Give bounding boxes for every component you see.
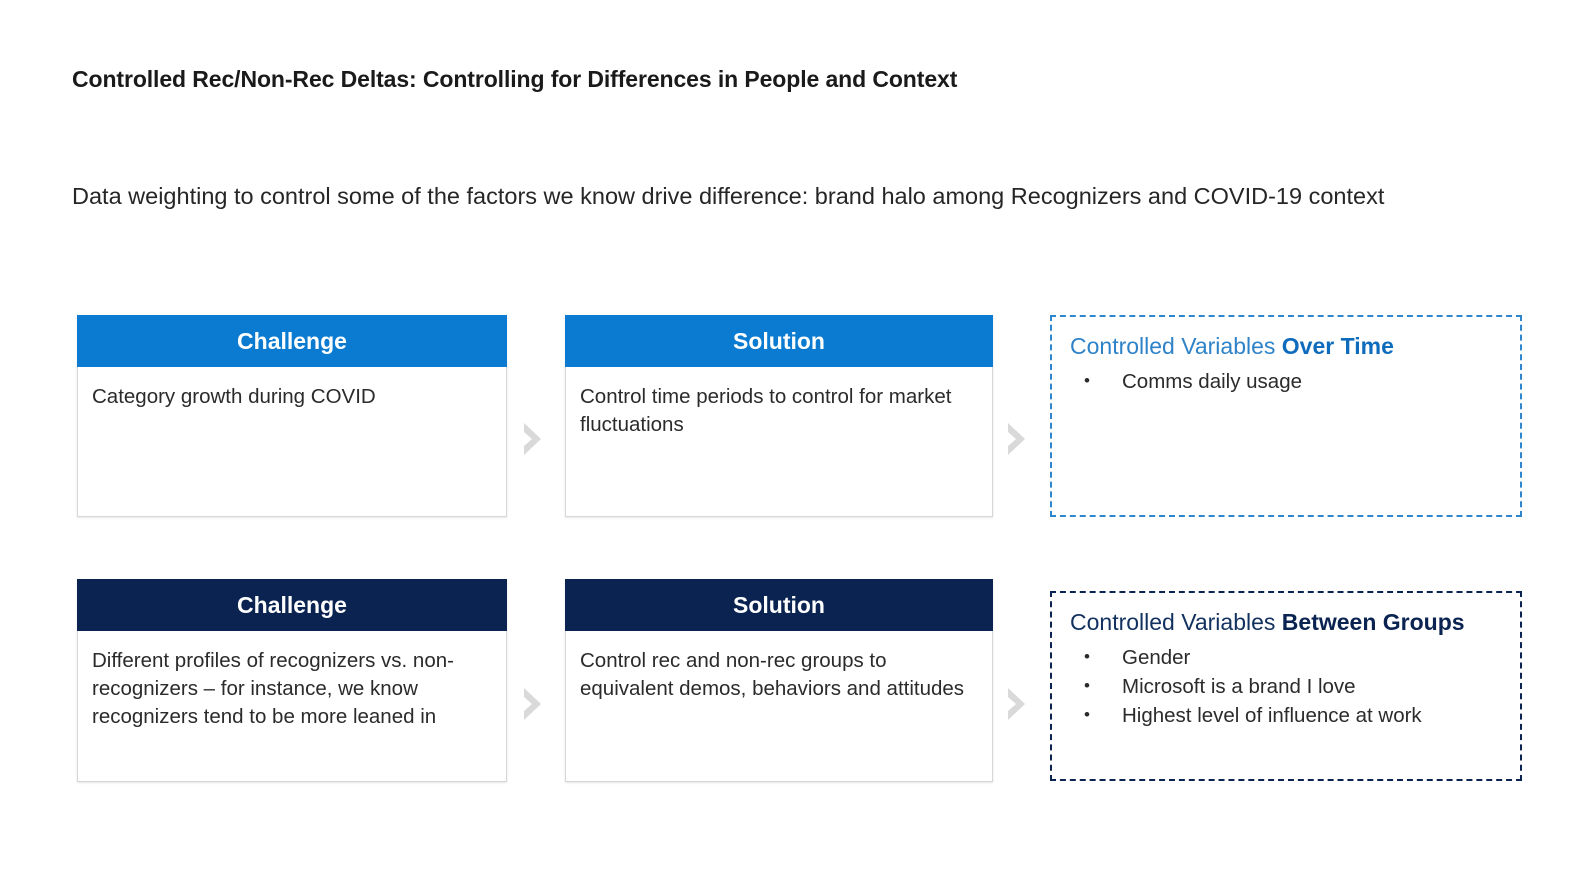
panel-2-heading-lead: Controlled Variables <box>1070 609 1282 635</box>
chevron-right-icon <box>1000 681 1034 727</box>
chevron-right-icon <box>516 681 550 727</box>
list-item: Comms daily usage <box>1070 367 1502 396</box>
challenge-card-2-header: Challenge <box>77 579 507 631</box>
controlled-variables-panel-1-heading: Controlled Variables Over Time <box>1070 331 1502 361</box>
list-item: Microsoft is a brand I love <box>1070 672 1502 701</box>
challenge-card-2: Challenge Different profiles of recogniz… <box>77 579 507 782</box>
challenge-card-1-body: Category growth during COVID <box>78 367 506 411</box>
solution-card-2-header: Solution <box>565 579 993 631</box>
solution-card-1: Solution Control time periods to control… <box>565 315 993 517</box>
solution-card-1-body: Control time periods to control for mark… <box>566 367 992 439</box>
page-title: Controlled Rec/Non-Rec Deltas: Controlli… <box>72 66 1492 93</box>
solution-card-1-header: Solution <box>565 315 993 367</box>
challenge-card-2-body: Different profiles of recognizers vs. no… <box>78 631 506 731</box>
list-item: Gender <box>1070 643 1502 672</box>
chevron-right-icon <box>516 416 550 462</box>
chevron-right-icon <box>1000 416 1034 462</box>
challenge-card-1: Challenge Category growth during COVID <box>77 315 507 517</box>
panel-2-heading-emph: Between Groups <box>1282 609 1465 635</box>
controlled-variables-panel-2: Controlled Variables Between Groups Gend… <box>1050 591 1522 781</box>
controlled-variables-panel-1: Controlled Variables Over Time Comms dai… <box>1050 315 1522 517</box>
panel-1-heading-emph: Over Time <box>1282 333 1394 359</box>
solution-card-2-body: Control rec and non-rec groups to equiva… <box>566 631 992 703</box>
slide-subtitle: Data weighting to control some of the fa… <box>72 180 1472 213</box>
challenge-card-1-header: Challenge <box>77 315 507 367</box>
list-item: Highest level of influence at work <box>1070 701 1502 730</box>
controlled-variables-panel-2-list: Gender Microsoft is a brand I love Highe… <box>1070 643 1502 730</box>
process-row-1: Challenge Category growth during COVID S… <box>0 315 1589 518</box>
panel-1-heading-lead: Controlled Variables <box>1070 333 1282 359</box>
controlled-variables-panel-2-heading: Controlled Variables Between Groups <box>1070 607 1502 637</box>
solution-card-2: Solution Control rec and non-rec groups … <box>565 579 993 782</box>
process-row-2: Challenge Different profiles of recogniz… <box>0 579 1589 783</box>
controlled-variables-panel-1-list: Comms daily usage <box>1070 367 1502 396</box>
